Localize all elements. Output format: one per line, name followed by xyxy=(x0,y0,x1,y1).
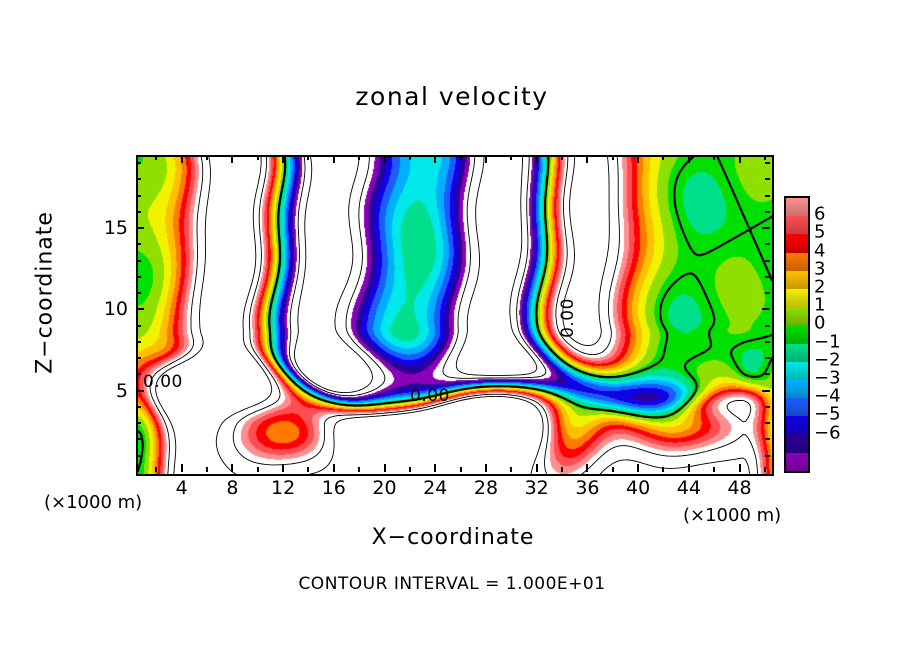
contour-lines-overlay xyxy=(138,157,772,474)
y-tick-mark xyxy=(136,341,141,343)
y-tick-mark xyxy=(765,162,770,164)
y-tick-mark xyxy=(136,260,141,262)
x-tick-mark xyxy=(637,464,639,472)
x-tick-mark xyxy=(333,155,335,163)
y-tick-mark xyxy=(765,341,770,343)
x-tick-mark xyxy=(409,467,411,472)
colorbar-swatch xyxy=(786,271,808,289)
x-tick-mark xyxy=(662,467,664,472)
colorbar-swatch xyxy=(786,307,808,325)
y-tick-mark xyxy=(136,227,144,229)
colorbar-swatch xyxy=(786,344,808,362)
colorbar-swatch xyxy=(786,380,808,398)
y-tick-mark xyxy=(136,325,141,327)
x-tick-label: 24 xyxy=(423,477,447,499)
x-tick-label: 28 xyxy=(474,477,498,499)
x-tick-mark xyxy=(307,155,309,160)
y-tick-label: 10 xyxy=(104,298,128,320)
contour-line xyxy=(294,157,536,393)
x-tick-mark xyxy=(612,155,614,160)
y-tick-mark xyxy=(136,406,141,408)
y-tick-mark xyxy=(136,292,141,294)
y-tick-mark xyxy=(765,178,770,180)
x-tick-label: 44 xyxy=(677,477,701,499)
colorbar-swatch xyxy=(786,234,808,252)
y-tick-mark xyxy=(136,178,141,180)
y-tick-mark xyxy=(136,455,141,457)
x-tick-mark xyxy=(739,155,741,163)
y-tick-mark xyxy=(136,438,141,440)
x-tick-mark xyxy=(510,467,512,472)
y-tick-mark xyxy=(765,276,770,278)
x-axis-unit-label: (×1000 m) xyxy=(683,505,781,526)
x-tick-mark xyxy=(434,155,436,163)
x-tick-mark xyxy=(181,155,183,163)
x-tick-mark xyxy=(485,155,487,163)
contour-label: 0.00 xyxy=(143,372,183,392)
y-tick-mark xyxy=(765,422,770,424)
x-tick-mark xyxy=(282,155,284,163)
x-tick-mark xyxy=(181,464,183,472)
x-tick-mark xyxy=(662,155,664,160)
y-tick-mark xyxy=(136,276,141,278)
y-tick-mark xyxy=(765,438,770,440)
x-tick-mark xyxy=(586,464,588,472)
page-title: zonal velocity xyxy=(0,82,904,111)
colorbar-swatch xyxy=(786,398,808,416)
y-tick-mark xyxy=(765,260,770,262)
x-tick-mark xyxy=(307,467,309,472)
x-tick-label: 36 xyxy=(575,477,599,499)
y-tick-mark xyxy=(765,243,770,245)
x-tick-mark xyxy=(257,467,259,472)
x-tick-mark xyxy=(460,155,462,160)
x-tick-mark xyxy=(384,155,386,163)
x-tick-mark xyxy=(384,464,386,472)
y-tick-mark xyxy=(136,308,144,310)
x-axis-title: X−coordinate xyxy=(136,525,770,550)
x-tick-mark xyxy=(206,467,208,472)
x-tick-mark xyxy=(612,467,614,472)
x-tick-mark xyxy=(155,467,157,472)
x-tick-mark xyxy=(485,464,487,472)
y-tick-mark xyxy=(762,308,770,310)
x-tick-mark xyxy=(536,464,538,472)
x-tick-mark xyxy=(713,155,715,160)
y-tick-mark xyxy=(136,373,141,375)
y-tick-mark xyxy=(762,227,770,229)
x-tick-mark xyxy=(586,155,588,163)
y-tick-mark xyxy=(136,211,141,213)
y-tick-mark xyxy=(762,390,770,392)
x-tick-mark xyxy=(739,464,741,472)
x-tick-mark xyxy=(510,155,512,160)
colorbar-swatch xyxy=(786,416,808,434)
plot-area xyxy=(136,155,774,476)
x-tick-mark xyxy=(688,155,690,163)
y-tick-mark xyxy=(765,292,770,294)
x-tick-label: 4 xyxy=(176,477,188,499)
x-tick-label: 16 xyxy=(322,477,346,499)
colorbar xyxy=(784,196,810,473)
colorbar-swatch xyxy=(786,325,808,343)
x-tick-mark xyxy=(688,464,690,472)
figure-root: zonal velocity 4812162024283236404448 51… xyxy=(0,0,904,654)
colorbar-swatch xyxy=(786,198,808,216)
y-tick-mark xyxy=(136,422,141,424)
y-tick-mark xyxy=(136,162,141,164)
y-tick-mark xyxy=(765,455,770,457)
x-tick-mark xyxy=(434,464,436,472)
x-tick-mark xyxy=(282,464,284,472)
x-tick-mark xyxy=(460,467,462,472)
y-tick-mark xyxy=(765,211,770,213)
x-tick-mark xyxy=(764,155,766,160)
contour-label: 0.00 xyxy=(410,386,450,406)
x-tick-mark xyxy=(231,464,233,472)
y-tick-mark xyxy=(765,195,770,197)
x-tick-mark xyxy=(206,155,208,160)
contour-line xyxy=(289,157,546,396)
y-tick-label: 5 xyxy=(116,380,128,402)
x-tick-label: 20 xyxy=(372,477,396,499)
x-tick-mark xyxy=(333,464,335,472)
y-tick-mark xyxy=(136,357,141,359)
x-tick-mark xyxy=(764,467,766,472)
y-axis-tick-labels: 51015 xyxy=(90,0,128,654)
contour-line xyxy=(150,157,757,474)
x-tick-mark xyxy=(155,155,157,160)
colorbar-swatch xyxy=(786,434,808,452)
x-tick-mark xyxy=(561,467,563,472)
y-tick-mark xyxy=(765,357,770,359)
x-tick-mark xyxy=(358,467,360,472)
colorbar-tick-label: −6 xyxy=(814,422,841,443)
x-tick-mark xyxy=(358,155,360,160)
x-tick-mark xyxy=(257,155,259,160)
x-tick-label: 12 xyxy=(271,477,295,499)
y-tick-label: 15 xyxy=(104,217,128,239)
contour-interval-note: CONTOUR INTERVAL = 1.000E+01 xyxy=(0,574,904,594)
colorbar-swatch xyxy=(786,289,808,307)
y-axis-unit-label: (×1000 m) xyxy=(44,492,142,513)
x-tick-mark xyxy=(409,155,411,160)
y-tick-mark xyxy=(765,373,770,375)
colorbar-swatch xyxy=(786,453,808,471)
y-tick-mark xyxy=(136,195,141,197)
colorbar-tick-labels: 6543210−1−2−3−4−5−6 xyxy=(814,196,854,473)
x-tick-label: 8 xyxy=(226,477,238,499)
x-tick-label: 40 xyxy=(626,477,650,499)
x-tick-mark xyxy=(231,155,233,163)
x-tick-mark xyxy=(637,155,639,163)
x-tick-mark xyxy=(713,467,715,472)
x-tick-label: 32 xyxy=(525,477,549,499)
colorbar-swatch xyxy=(786,253,808,271)
x-tick-label: 48 xyxy=(727,477,751,499)
contour-label: 0.00 xyxy=(558,298,578,338)
y-tick-mark xyxy=(136,243,141,245)
x-tick-mark xyxy=(561,155,563,160)
y-axis-title: Z−coordinate xyxy=(33,193,58,393)
zero-contour-line xyxy=(138,157,772,471)
y-tick-mark xyxy=(765,406,770,408)
y-tick-mark xyxy=(765,325,770,327)
x-tick-mark xyxy=(536,155,538,163)
colorbar-swatch xyxy=(786,216,808,234)
colorbar-swatch xyxy=(786,362,808,380)
